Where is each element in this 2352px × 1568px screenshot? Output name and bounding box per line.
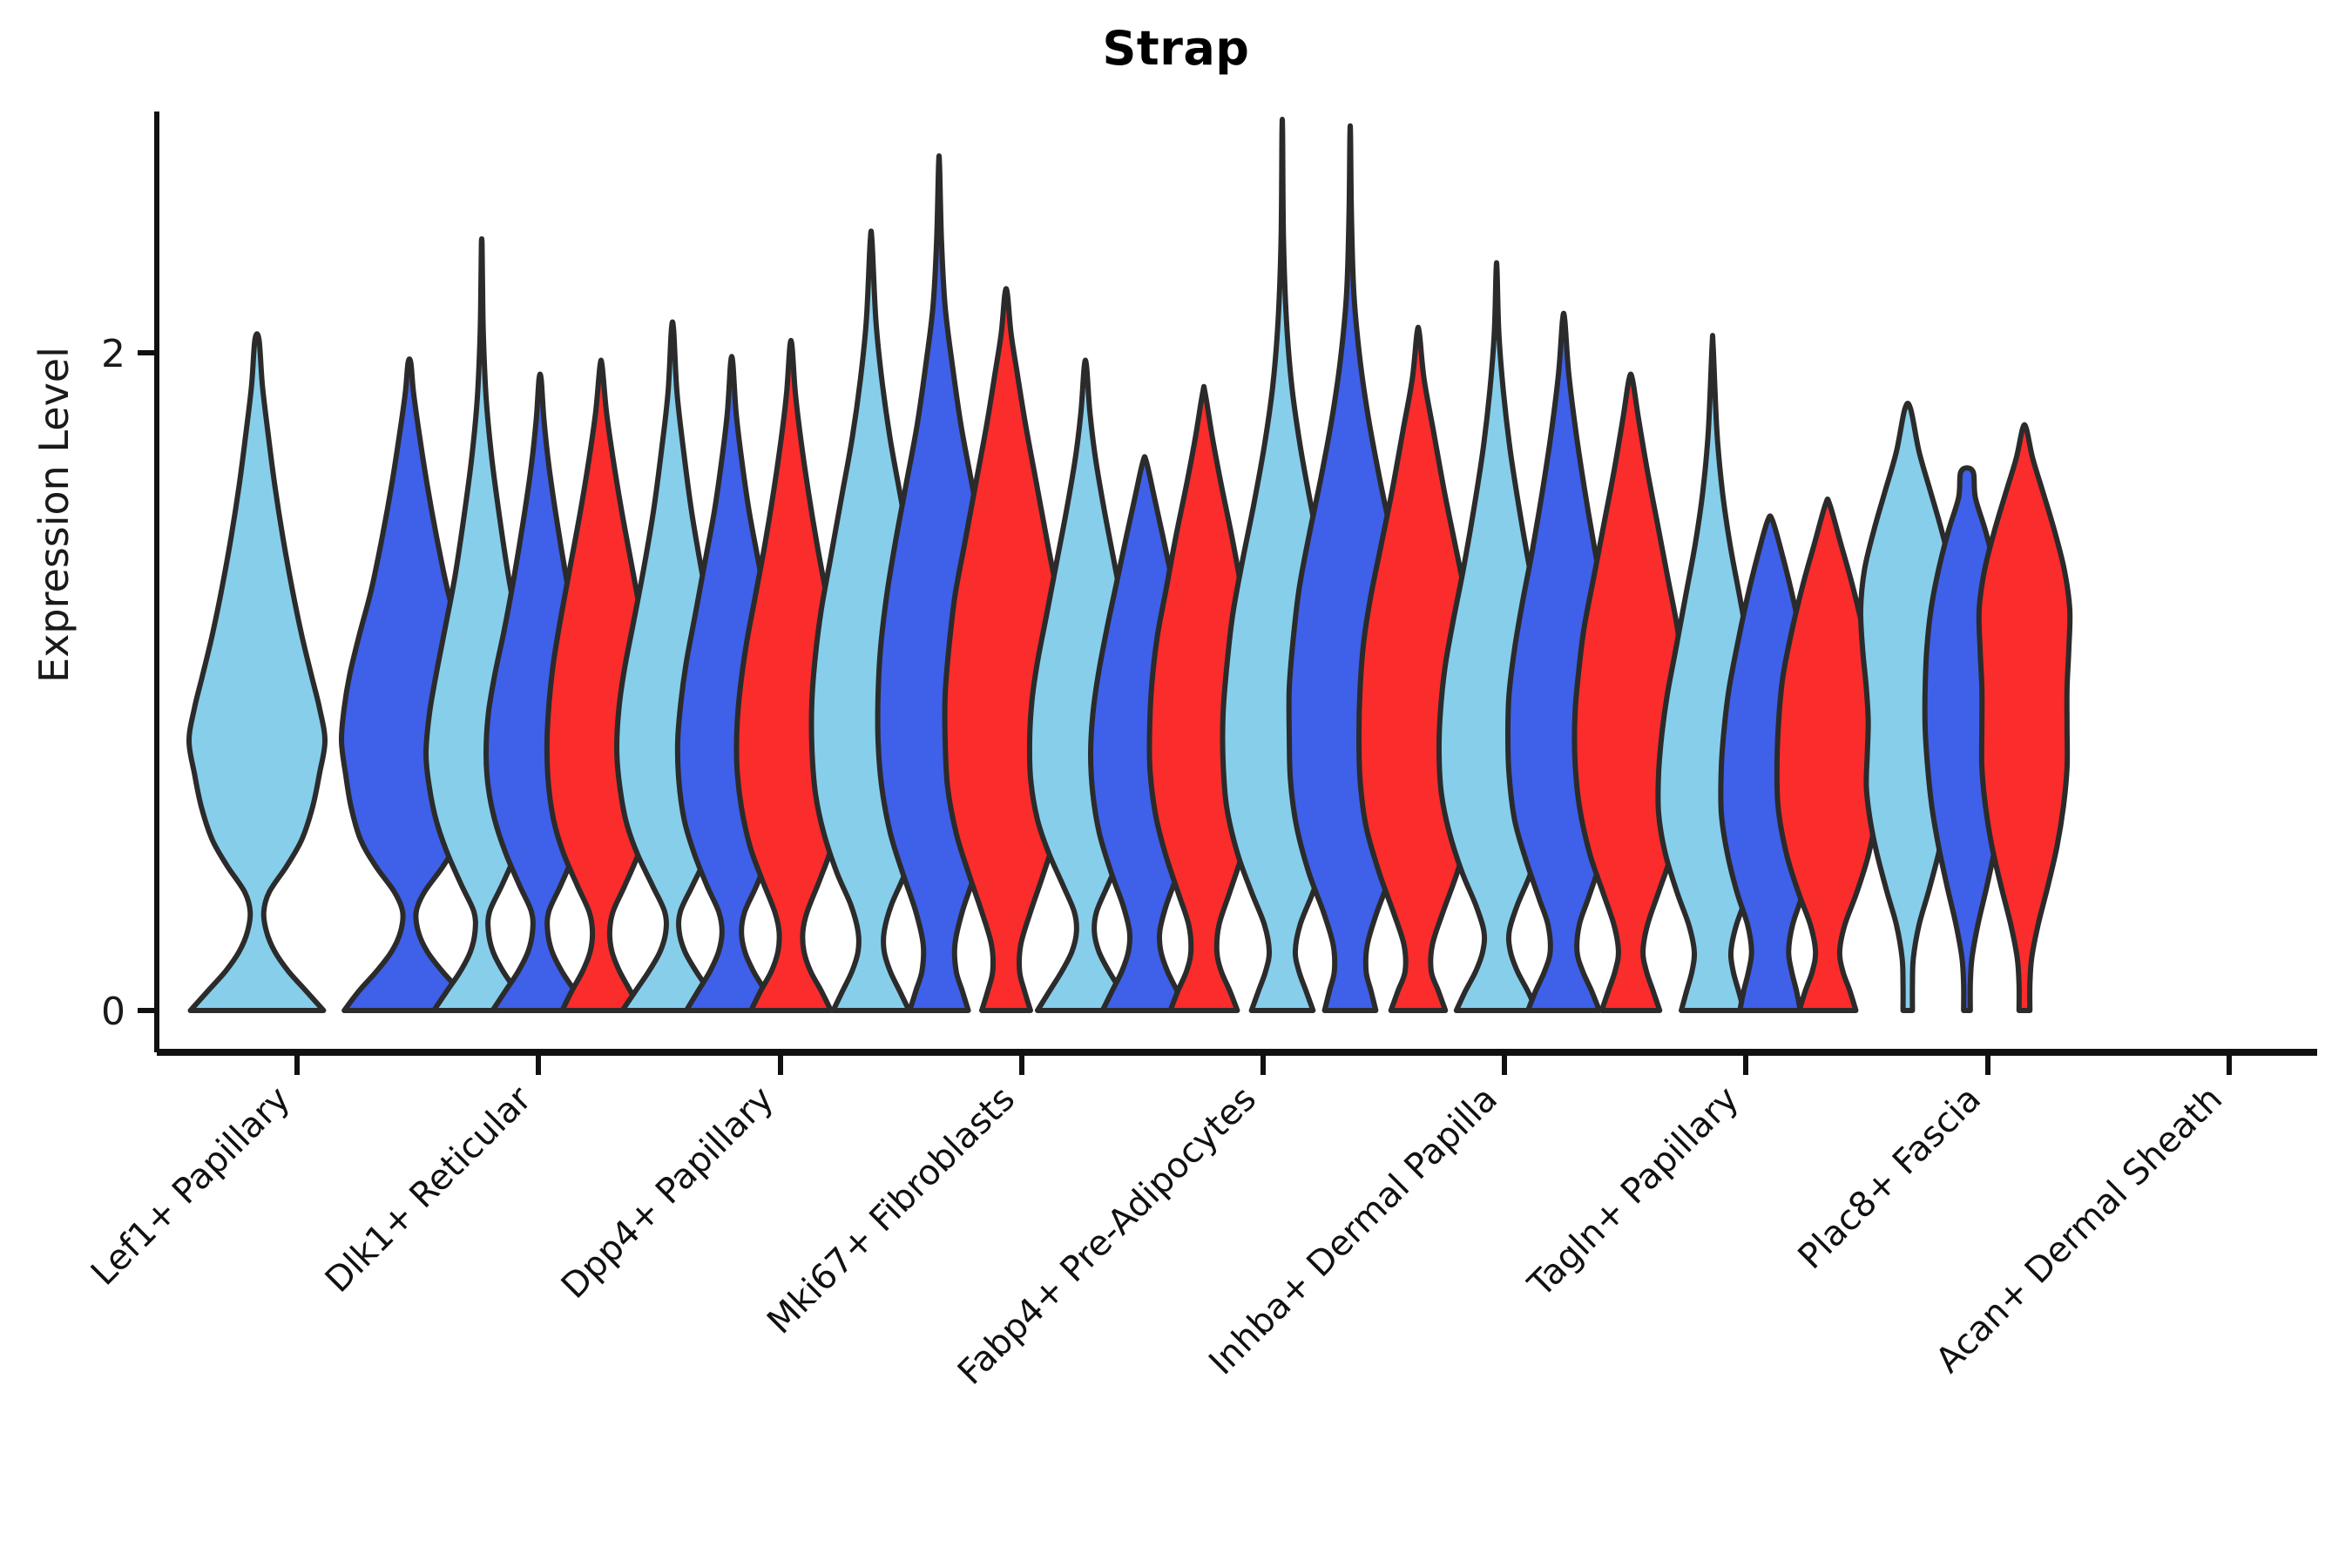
y-tick-label: 2 [101,332,125,376]
x-tick-label: Plac8+ Fascia [1791,1079,1990,1278]
violin-body [189,334,325,1010]
violin: Acan+ Dermal Sheath / red [1979,425,2071,1010]
x-tick-label: Mki67+ Fibroblasts [760,1079,1023,1342]
y-tick-label: 0 [101,990,125,1034]
violin-body [1979,425,2071,1010]
violin: Lef1+ Papillary / light_blue [189,334,325,1010]
violins-layer: Lef1+ Papillary / light_blueLef1+ Papill… [189,119,2070,1010]
y-tick-labels: 02 [101,332,125,1034]
x-tick-label: Lef1+ Papillary [84,1079,298,1294]
x-tick-label: Inhba+ Dermal Papilla [1201,1079,1505,1383]
x-tick-label: Tagln+ Papillary [1520,1079,1747,1306]
x-tick-label: Acan+ Dermal Sheath [1929,1079,2231,1382]
x-tick-label: Dpp4+ Papillary [554,1079,781,1307]
violin-plot: Lef1+ Papillary / light_blueLef1+ Papill… [0,0,2352,1568]
x-tick-labels: Lef1+ PapillaryDlk1+ ReticularDpp4+ Papi… [84,1078,2230,1393]
x-tick-label: Dlk1+ Reticular [318,1078,540,1301]
